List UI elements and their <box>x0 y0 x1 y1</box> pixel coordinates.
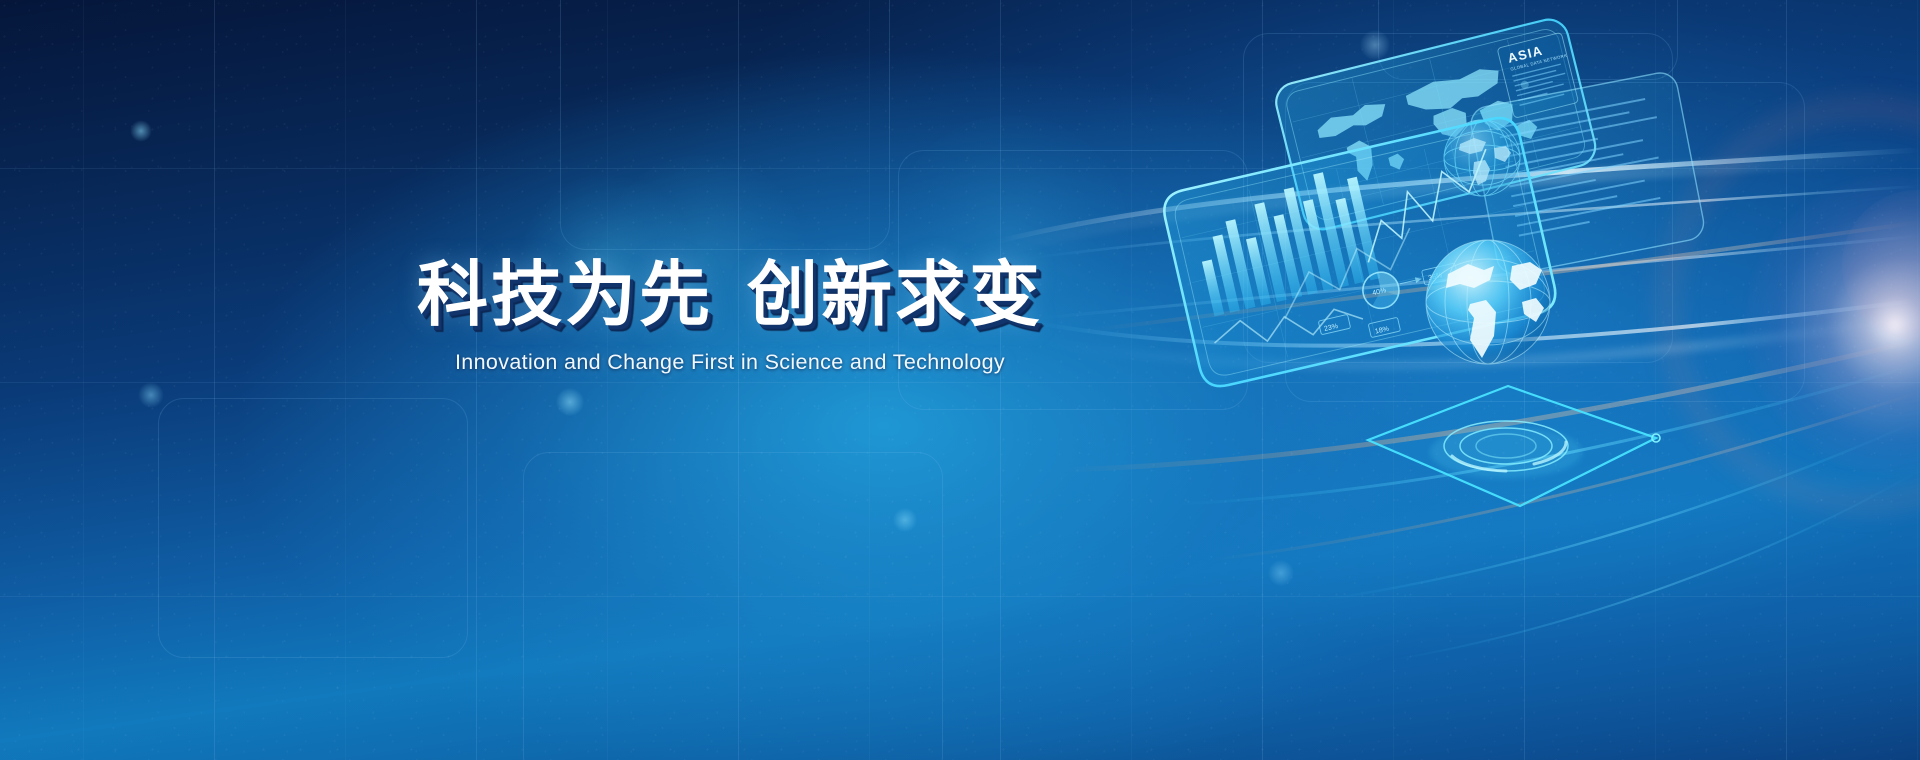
page-title: 科技为先创新求变 <box>380 258 1080 332</box>
hero-text-block: 科技为先创新求变 Innovation and Change First in … <box>380 258 1080 375</box>
holographic-globe <box>1426 240 1550 364</box>
hero-banner: 科技为先创新求变 Innovation and Change First in … <box>0 0 1920 760</box>
page-subtitle: Innovation and Change First in Science a… <box>380 350 1080 375</box>
globe-glow <box>1430 426 1582 478</box>
hud-tech-graphic: ASIA GLOBAL DATA NETWORK <box>1040 0 1920 660</box>
headline-phrase-2: 创新求变 <box>747 253 1043 336</box>
headline-phrase-1: 科技为先 <box>417 253 713 336</box>
